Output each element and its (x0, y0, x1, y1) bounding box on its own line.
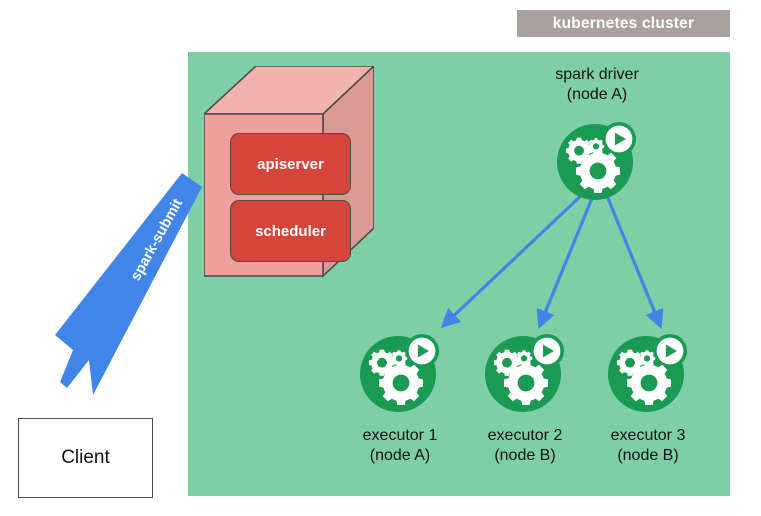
scheduler-box[interactable]: scheduler (230, 200, 351, 262)
gears-play-icon (485, 332, 565, 412)
scheduler-label: scheduler (255, 223, 326, 240)
executor-1-node[interactable] (360, 332, 440, 412)
diagram-canvas: kubernetes cluster Client spark-submit a… (0, 0, 761, 516)
client-box[interactable]: Client (18, 418, 153, 498)
executor-3-label: executor 3 (node B) (573, 426, 723, 466)
kubernetes-cluster-badge-label: kubernetes cluster (553, 15, 694, 33)
spark-driver-label: spark driver (node A) (522, 65, 672, 105)
spark-driver-node[interactable] (557, 120, 637, 200)
executor-2-node[interactable] (485, 332, 565, 412)
gears-play-icon (557, 120, 637, 200)
executor-3-node[interactable] (608, 332, 688, 412)
control-plane-cube: apiserver scheduler (204, 66, 374, 278)
gears-play-icon (360, 332, 440, 412)
spark-submit-arrow[interactable] (55, 160, 215, 415)
kubernetes-cluster-badge: kubernetes cluster (517, 10, 730, 37)
gears-play-icon (608, 332, 688, 412)
client-label: Client (61, 447, 110, 469)
apiserver-label: apiserver (257, 156, 324, 173)
block-arrow-icon (55, 160, 215, 415)
apiserver-box[interactable]: apiserver (230, 133, 351, 195)
